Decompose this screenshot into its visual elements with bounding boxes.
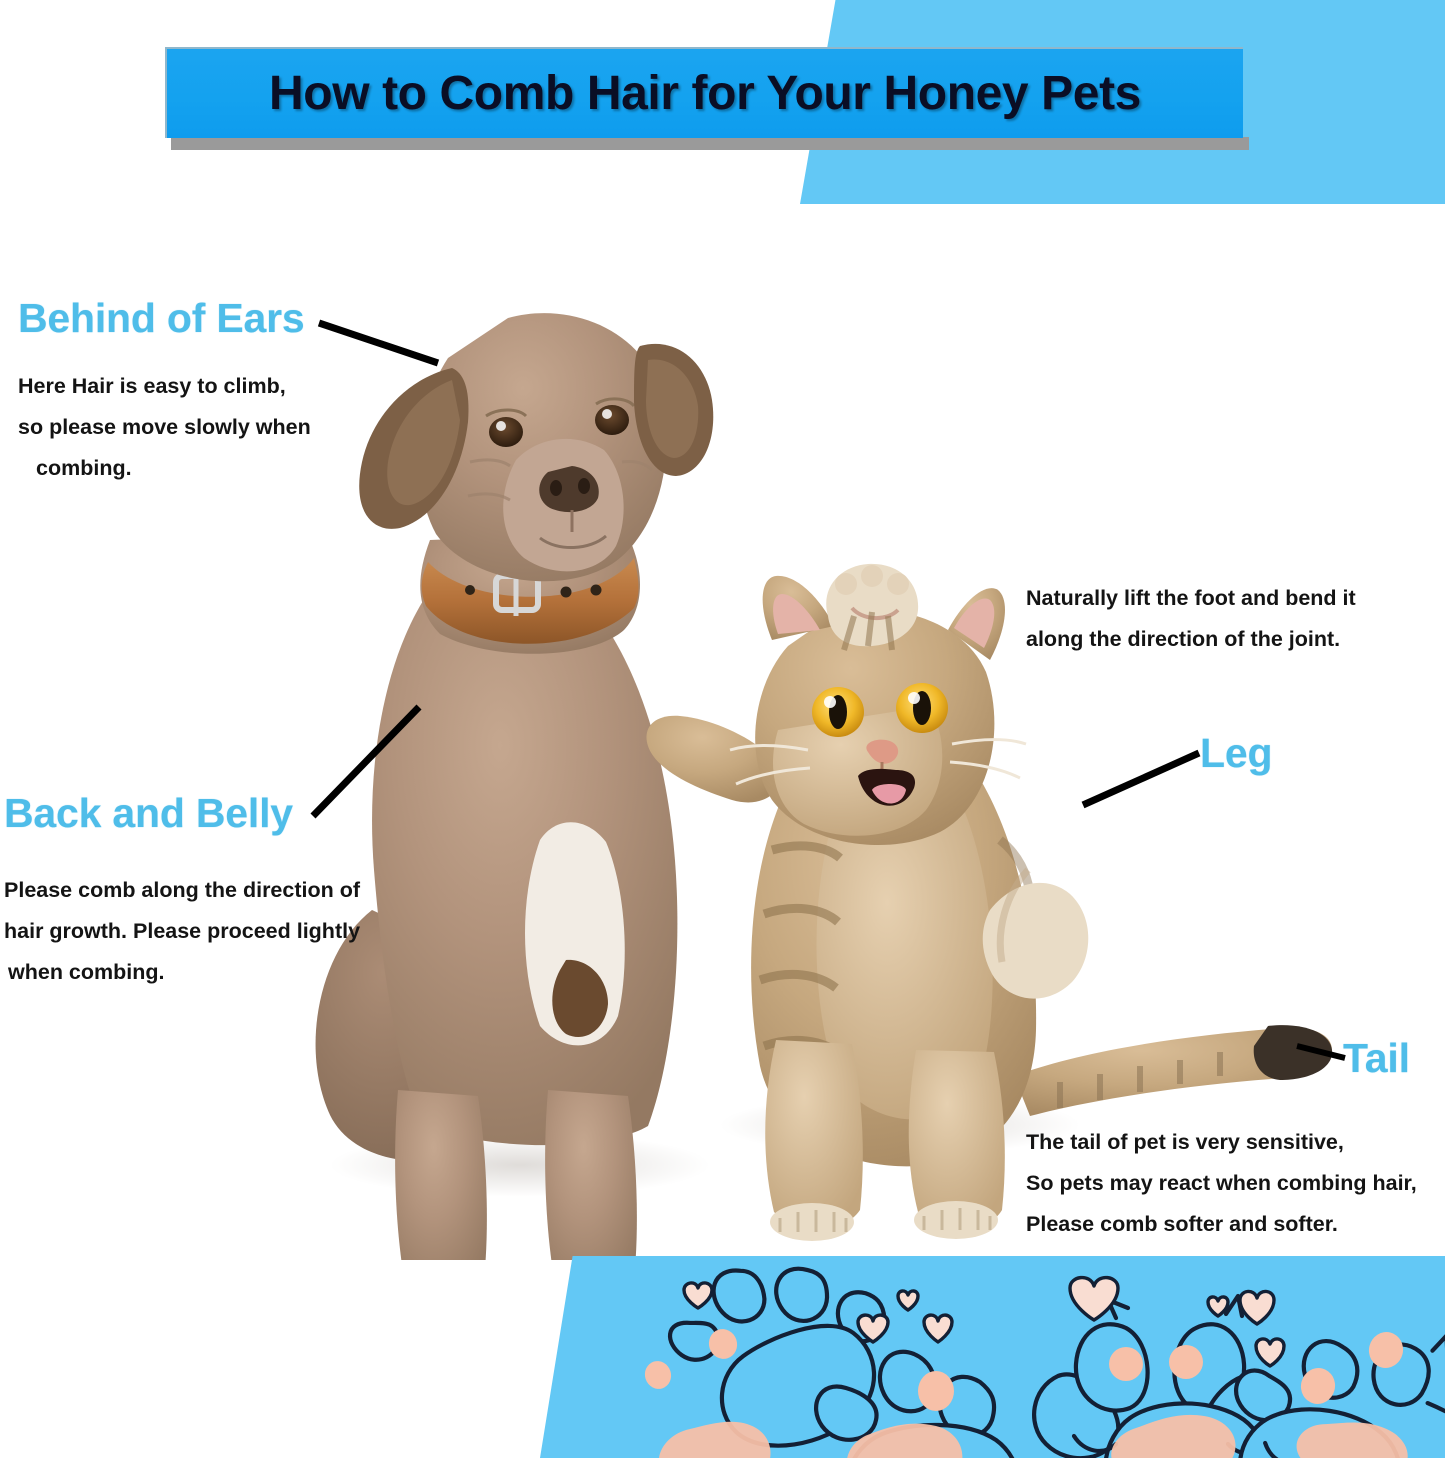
callout-text-line: Here Hair is easy to climb, [18,366,311,407]
leader-line-ears [319,323,438,363]
callout-text-line: Please comb along the direction of [4,870,360,911]
callout-label-back-and-belly: Back and Belly [4,790,293,837]
callout-text-line: Please comb softer and softer. [1026,1204,1417,1245]
callout-text-line: along the direction of the joint. [1026,619,1356,660]
callout-text-line: so please move slowly when [18,407,311,448]
callout-text-line: So pets may react when combing hair, [1026,1163,1417,1204]
callout-text-line: Naturally lift the foot and bend it [1026,578,1356,619]
callout-text-line: when combing. [4,952,360,993]
callout-text-line: The tail of pet is very sensitive, [1026,1122,1417,1163]
infographic-page: How to Comb Hair for Your Honey Pets [0,0,1445,1458]
leader-line-back [313,707,419,816]
leader-line-leg [1083,753,1199,805]
callout-text-line: hair growth. Please proceed lightly [4,911,360,952]
callout-text-back-and-belly: Please comb along the direction of hair … [4,870,360,993]
callout-text-behind-of-ears: Here Hair is easy to climb, so please mo… [18,366,311,489]
callout-label-tail: Tail [1343,1035,1410,1082]
callout-text-tail: The tail of pet is very sensitive, So pe… [1026,1122,1417,1245]
callout-text-leg: Naturally lift the foot and bend it alon… [1026,578,1356,660]
leader-line-tail [1297,1046,1345,1058]
callout-text-line: combing. [18,448,311,489]
callout-label-leg: Leg [1200,730,1272,777]
callout-label-behind-of-ears: Behind of Ears [18,295,305,342]
